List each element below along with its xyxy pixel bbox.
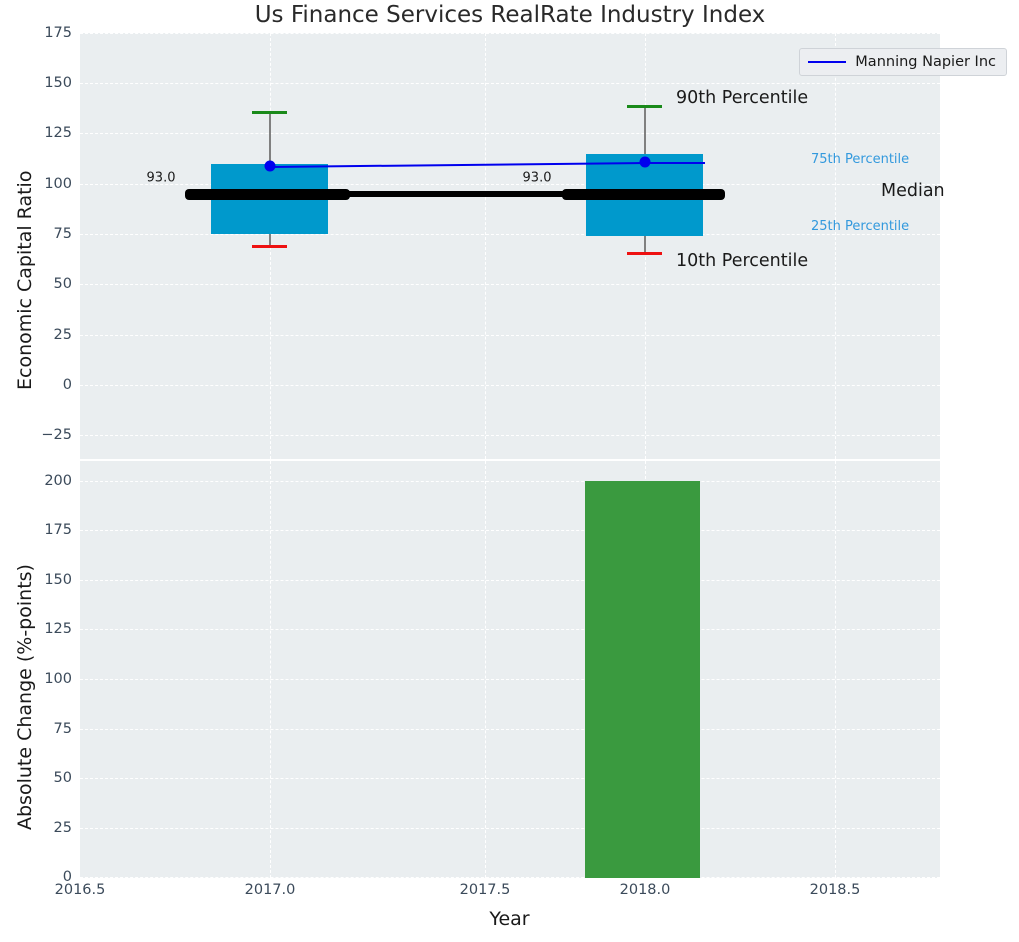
gridline-y-50 [80, 284, 940, 285]
annotation-median: Median [881, 181, 945, 201]
top-panel-y-axis: 175 150 125 100 75 50 25 0 −25 [0, 33, 72, 459]
absolute-change-bar-2018 [585, 481, 700, 878]
gridline-x-2017-5 [485, 33, 486, 459]
gridline-y-neg25 [80, 435, 940, 436]
annotation-25th-percentile: 25th Percentile [811, 219, 909, 234]
gridline-change-50 [80, 778, 940, 779]
company-line-stub-right [645, 162, 705, 164]
ytick-top-neg25: −25 [41, 427, 72, 443]
gridline-y-75 [80, 234, 940, 235]
annotation-90th-percentile: 90th Percentile [676, 88, 808, 108]
xtick-2018-5: 2018.5 [810, 882, 861, 898]
bottom-panel-y-axis-label: Absolute Change (%-points) [14, 564, 36, 830]
ytick-top-150: 150 [44, 75, 72, 91]
gridline-change-0 [80, 877, 940, 878]
gridline-y-175 [80, 33, 940, 34]
gridline-change-125 [80, 629, 940, 630]
legend-line-icon [808, 61, 846, 63]
gridline-y-25 [80, 335, 940, 336]
gridline-change-x-2017 [270, 461, 271, 878]
xtick-2017-5: 2017.5 [460, 882, 511, 898]
chart-title: Us Finance Services RealRate Industry In… [80, 2, 940, 28]
gridline-change-100 [80, 679, 940, 680]
ytick-bot-25: 25 [54, 820, 72, 836]
xtick-2018-0: 2018.0 [620, 882, 671, 898]
xtick-2017-0: 2017.0 [245, 882, 296, 898]
ytick-bot-200: 200 [44, 473, 72, 489]
whisker-cap-p90-2017 [252, 111, 287, 114]
legend[interactable]: Manning Napier Inc [799, 48, 1007, 76]
gridline-x-2018-5 [835, 33, 836, 459]
gridline-change-175 [80, 530, 940, 531]
legend-label-manning-napier: Manning Napier Inc [855, 54, 996, 70]
gridline-change-25 [80, 828, 940, 829]
annotation-10th-percentile: 10th Percentile [676, 251, 808, 271]
gridline-change-x-2017-5 [485, 461, 486, 878]
company-point-2017 [265, 161, 276, 172]
gridline-y-125 [80, 133, 940, 134]
gridline-change-150 [80, 580, 940, 581]
median-value-label-2018: 93.0 [523, 171, 552, 186]
ytick-top-175: 175 [44, 25, 72, 41]
xtick-2016-5: 2016.5 [55, 882, 106, 898]
whisker-cap-p10-2017 [252, 245, 287, 248]
median-bar-2017 [185, 189, 350, 200]
chart-figure: Us Finance Services RealRate Industry In… [0, 0, 1019, 942]
median-bar-2018 [562, 189, 725, 200]
ytick-top-25: 25 [54, 327, 72, 343]
bottom-panel-plot-area [80, 461, 940, 878]
gridline-y-150 [80, 83, 940, 84]
ytick-top-0: 0 [63, 377, 72, 393]
ytick-top-100: 100 [44, 176, 72, 192]
top-panel-y-axis-label: Economic Capital Ratio [14, 171, 36, 390]
x-axis-label: Year [0, 908, 1019, 930]
company-point-2018 [640, 157, 651, 168]
ytick-top-125: 125 [44, 125, 72, 141]
whisker-cap-p90-2018 [627, 105, 662, 108]
median-value-label-2017: 93.0 [147, 171, 176, 186]
ytick-bot-100: 100 [44, 671, 72, 687]
ytick-bot-75: 75 [54, 721, 72, 737]
bottom-panel-y-axis: 200 175 150 125 100 75 50 25 0 [0, 461, 72, 878]
gridline-y-100 [80, 184, 940, 185]
gridline-change-75 [80, 729, 940, 730]
whisker-cap-p10-2018 [627, 252, 662, 255]
ytick-bot-175: 175 [44, 522, 72, 538]
ytick-bot-150: 150 [44, 572, 72, 588]
annotation-75th-percentile: 75th Percentile [811, 152, 909, 167]
top-panel-plot-area [80, 33, 940, 459]
ytick-bot-50: 50 [54, 770, 72, 786]
gridline-change-200 [80, 481, 940, 482]
ytick-top-75: 75 [54, 226, 72, 242]
ytick-bot-125: 125 [44, 621, 72, 637]
gridline-y-0 [80, 385, 940, 386]
ytick-top-50: 50 [54, 276, 72, 292]
gridline-change-x-2018-5 [835, 461, 836, 878]
